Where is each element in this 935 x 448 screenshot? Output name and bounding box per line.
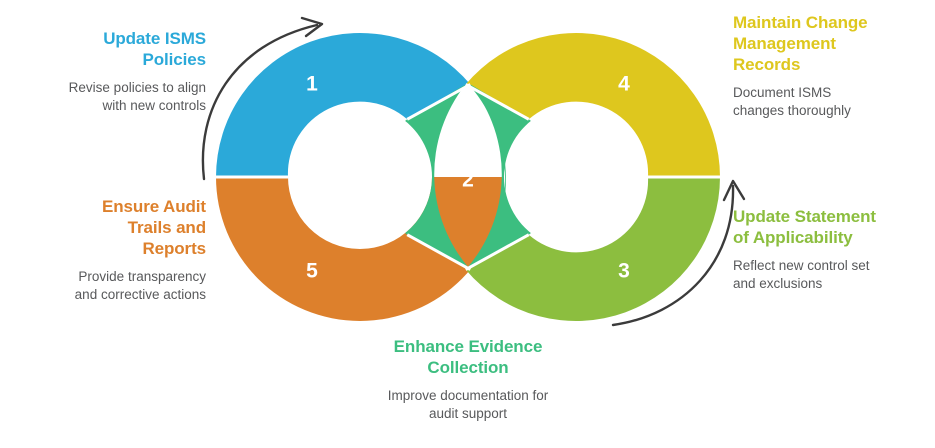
step-2-title-line-1: Enhance Evidence (394, 337, 543, 356)
segment-number-4: 4 (618, 73, 630, 96)
segment-number-5: 5 (306, 260, 318, 283)
step-5-title-line-3: Reports (142, 239, 206, 258)
step-3-desc-line-2: and exclusions (733, 276, 822, 291)
segment-number-1: 1 (306, 73, 318, 96)
step-3-title-line-2: of Applicability (733, 228, 853, 247)
step-4-title-line-3: Records (733, 55, 800, 74)
step-5-title-line-1: Ensure Audit (102, 197, 206, 216)
step-1-desc-line-2: with new controls (102, 98, 206, 113)
step-5-title: Ensure Audit Trails and Reports (20, 196, 206, 259)
step-5-label: Ensure Audit Trails and Reports Provide … (20, 196, 206, 304)
step-1-title-line-1: Update ISMS (103, 29, 206, 48)
step-1-label: Update ISMS Policies Revise policies to … (20, 28, 206, 115)
step-2-desc-line-2: audit support (429, 406, 507, 421)
step-4-desc-line-1: Document ISMS (733, 85, 831, 100)
step-1-title-line-2: Policies (143, 50, 206, 69)
step-2-label: Enhance Evidence Collection Improve docu… (338, 336, 598, 423)
step-5-description: Provide transparency and corrective acti… (20, 268, 206, 304)
step-3-description: Reflect new control set and exclusions (733, 257, 925, 293)
step-4-description: Document ISMS changes thoroughly (733, 84, 923, 120)
step-1-title: Update ISMS Policies (20, 28, 206, 70)
step-2-title: Enhance Evidence Collection (338, 336, 598, 378)
step-1-desc-line-1: Revise policies to align (69, 80, 206, 95)
step-5-title-line-2: Trails and (128, 218, 206, 237)
segment-5-orange[interactable] (216, 177, 504, 321)
step-3-label: Update Statement of Applicability Reflec… (733, 206, 925, 293)
step-2-description: Improve documentation for audit support (338, 387, 598, 423)
step-4-title: Maintain Change Management Records (733, 12, 923, 75)
step-4-label: Maintain Change Management Records Docum… (733, 12, 923, 120)
segment-number-2: 2 (462, 169, 474, 192)
step-3-title: Update Statement of Applicability (733, 206, 925, 248)
step-5-desc-line-2: and corrective actions (75, 287, 206, 302)
segment-number-3: 3 (618, 260, 630, 283)
step-2-desc-line-1: Improve documentation for (388, 388, 549, 403)
step-3-desc-line-1: Reflect new control set (733, 258, 870, 273)
step-2-title-line-2: Collection (427, 358, 508, 377)
step-4-desc-line-2: changes thoroughly (733, 103, 851, 118)
step-5-desc-line-1: Provide transparency (78, 269, 206, 284)
step-3-title-line-1: Update Statement (733, 207, 876, 226)
step-1-description: Revise policies to align with new contro… (20, 79, 206, 115)
step-4-title-line-1: Maintain Change (733, 13, 868, 32)
infographic-canvas: 1 2 3 4 5 Update ISMS Policies Revise po… (0, 0, 935, 448)
step-4-title-line-2: Management (733, 34, 836, 53)
